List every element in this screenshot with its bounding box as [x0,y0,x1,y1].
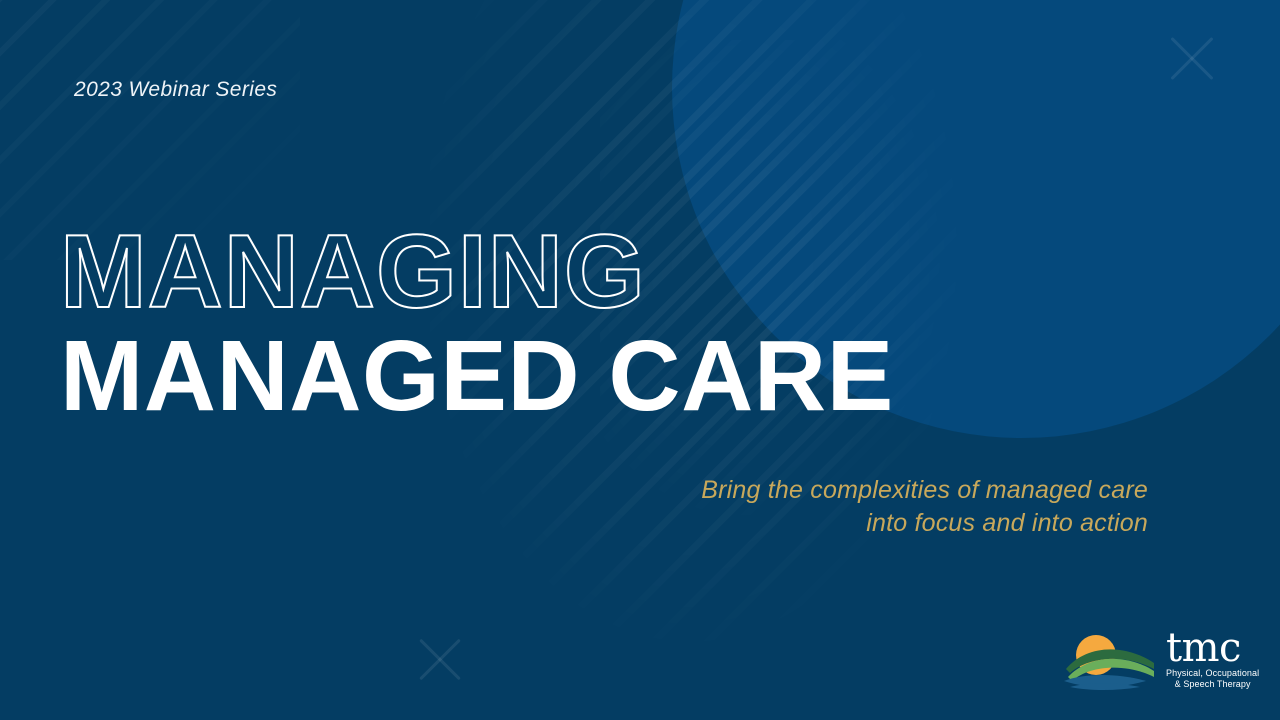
series-eyebrow-label: 2023 Webinar Series [74,78,277,102]
title-line-outlined: MANAGING [60,222,1180,324]
tmc-sun-hills-waves-logo-icon [1062,629,1158,691]
logo-tagline-line-2: & Speech Therapy [1166,679,1259,690]
subtitle-line-1: Bring the complexities of managed care [701,474,1148,507]
title-line-solid: MANAGED CARE [60,326,1180,426]
logo-tagline-line-1: Physical, Occupational [1166,668,1259,679]
x-mark-icon-bottom [412,630,468,686]
webinar-title-slide: 2023 Webinar Series MANAGING MANAGED CAR… [0,0,1280,720]
logo-tagline: Physical, Occupational & Speech Therapy [1166,668,1259,690]
tmc-logo: tmc Physical, Occupational & Speech Ther… [1062,624,1270,696]
subtitle-line-2: into focus and into action [701,507,1148,540]
x-mark-icon-top-right [1163,28,1221,86]
subtitle: Bring the complexities of managed care i… [701,474,1148,539]
page-title: MANAGING MANAGED CARE [60,222,1180,426]
logo-text-block: tmc Physical, Occupational & Speech Ther… [1166,630,1259,690]
logo-wordmark: tmc [1166,630,1259,666]
